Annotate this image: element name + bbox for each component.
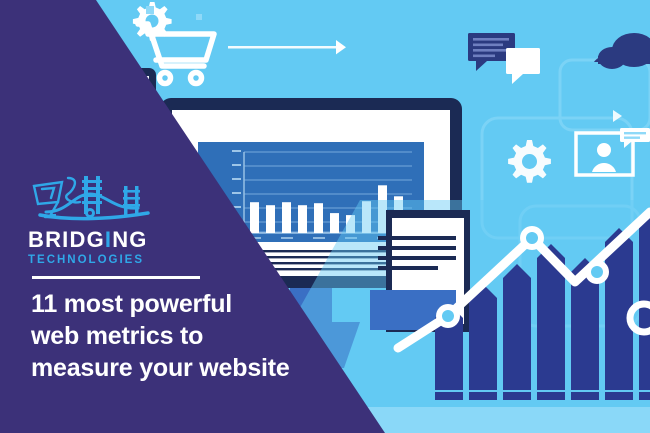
headline-line-3: measure your website [31, 352, 331, 384]
headline-divider [32, 276, 200, 279]
page-title: 11 most powerful web metrics to measure … [31, 288, 331, 384]
brand-name-part2: NG [112, 227, 147, 252]
brand-name: BRIDGING [28, 229, 178, 251]
brand-logo: BRIDGING TECHNOLOGIES [28, 172, 178, 267]
gear-outline-icon [508, 140, 551, 183]
banner-image: BRIDGING TECHNOLOGIES 11 most powerful w… [0, 0, 650, 433]
brand-name-part1: BRIDG [28, 227, 105, 252]
headline-line-2: web metrics to [31, 320, 331, 352]
brand-tagline: TECHNOLOGIES [28, 255, 178, 267]
suspension-bridge-icon [28, 172, 160, 228]
headline-line-1: 11 most powerful [31, 288, 331, 320]
